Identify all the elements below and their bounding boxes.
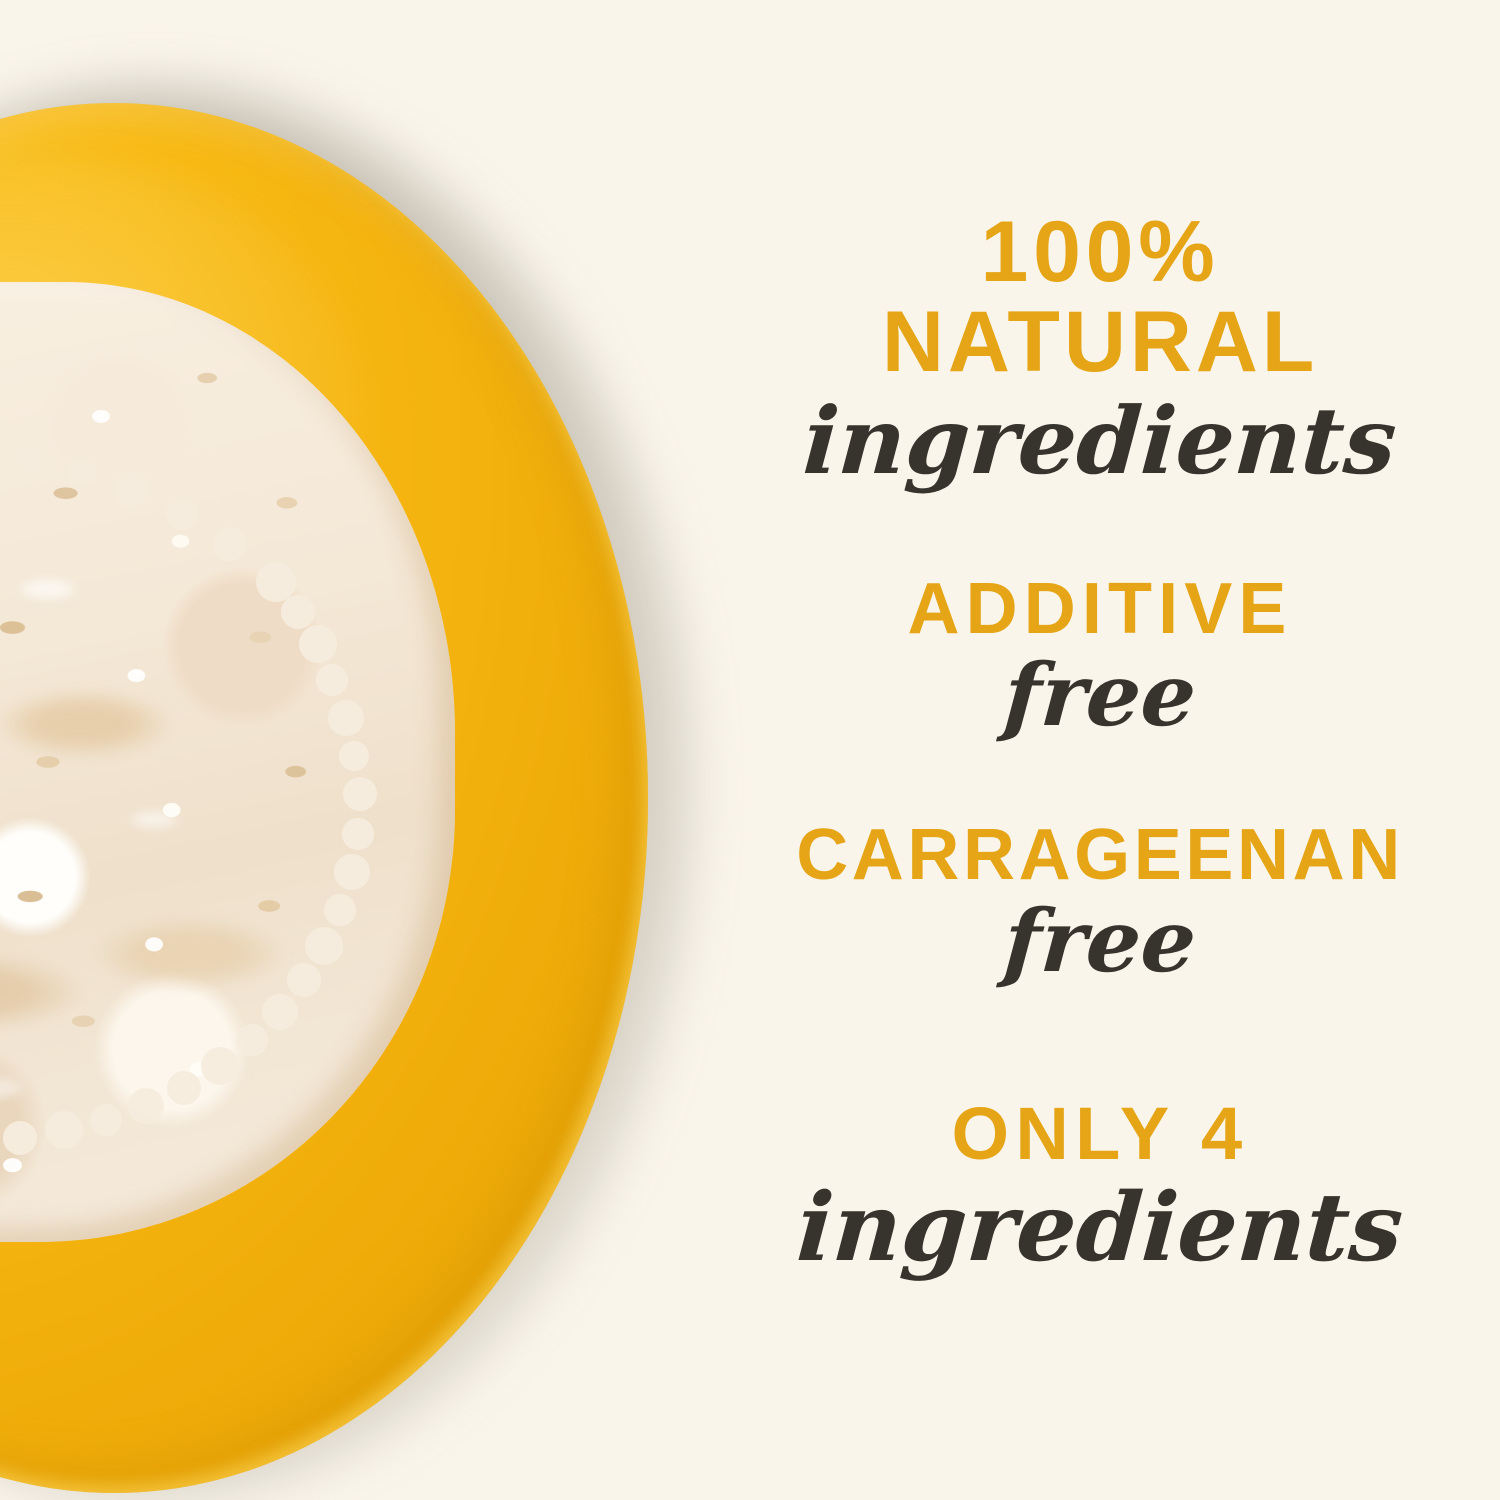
claim-natural-headline-2: NATURAL — [700, 299, 1500, 385]
claim-carrageenan-headline: CARRAGEENAN — [700, 819, 1500, 891]
claim-additive-script: free — [697, 653, 1500, 739]
claim-carrageenan-free: CARRAGEENAN free — [700, 819, 1500, 985]
claim-only4-headline: ONLY 4 — [700, 1097, 1500, 1171]
claim-additive-headline: ADDITIVE — [700, 573, 1500, 645]
claim-only4-script: ingredients — [697, 1181, 1500, 1275]
claims-column: 100% NATURAL ingredients ADDITIVE free C… — [700, 0, 1500, 1500]
claim-natural-headline-1: 100% — [700, 209, 1500, 295]
claim-natural-ingredients: 100% NATURAL ingredients — [700, 209, 1500, 487]
shredded-chicken-food — [0, 282, 455, 1242]
food-photo-panel — [0, 0, 760, 1500]
claim-carrageenan-script: free — [697, 899, 1500, 985]
claim-natural-script: ingredients — [697, 395, 1500, 487]
claim-only-4-ingredients: ONLY 4 ingredients — [700, 1097, 1500, 1275]
claim-additive-free: ADDITIVE free — [700, 573, 1500, 739]
product-feature-callout-canvas: 100% NATURAL ingredients ADDITIVE free C… — [0, 0, 1500, 1500]
